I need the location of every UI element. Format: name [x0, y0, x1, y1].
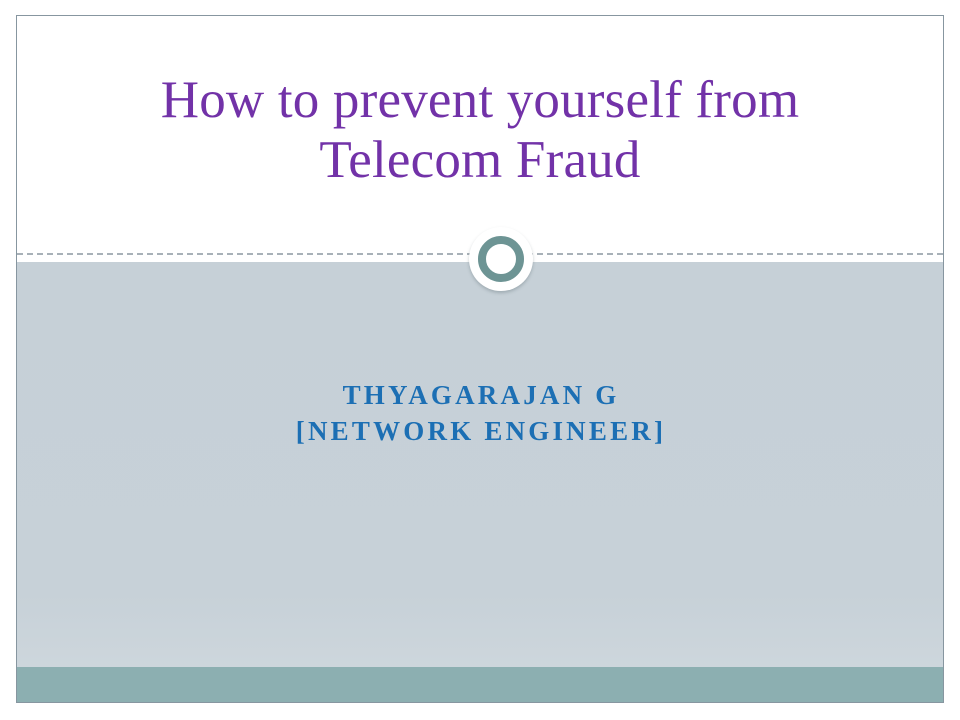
circle-ring-ornament-icon: [469, 227, 533, 291]
slide-subtitle: THYAGARAJAN G [NETWORK ENGINEER]: [75, 377, 887, 449]
title-zone: How to prevent yourself from Telecom Fra…: [17, 16, 943, 262]
slide-title: How to prevent yourself from Telecom Fra…: [17, 70, 943, 190]
slide-frame: How to prevent yourself from Telecom Fra…: [16, 15, 944, 703]
subtitle-block: THYAGARAJAN G [NETWORK ENGINEER]: [75, 377, 887, 449]
accent-band: [17, 667, 943, 703]
body-zone: THYAGARAJAN G [NETWORK ENGINEER]: [17, 262, 943, 667]
ornament-ring: [478, 236, 524, 282]
slide-canvas: How to prevent yourself from Telecom Fra…: [0, 0, 960, 720]
